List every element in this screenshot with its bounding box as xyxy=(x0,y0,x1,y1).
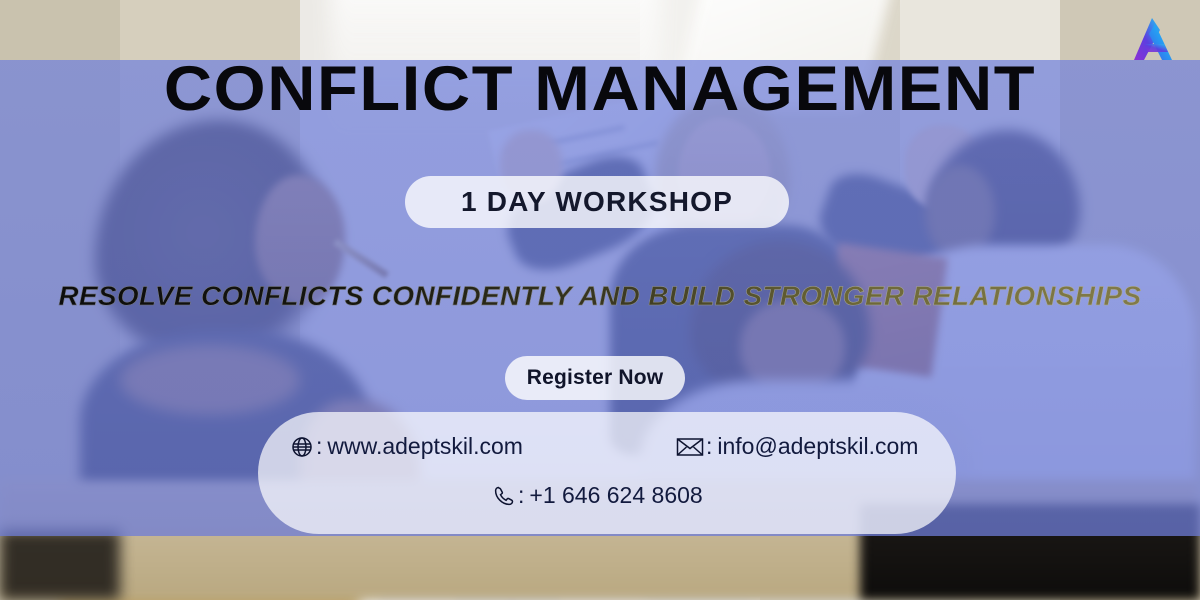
workshop-duration-label: 1 DAY WORKSHOP xyxy=(461,186,733,218)
phone-text: +1 646 624 8608 xyxy=(529,482,702,509)
email-text: info@adeptskil.com xyxy=(717,433,918,460)
register-now-label: Register Now xyxy=(527,366,664,390)
envelope-icon xyxy=(676,436,704,458)
workshop-duration-badge: 1 DAY WORKSHOP xyxy=(405,176,789,228)
contact-phone[interactable]: : +1 646 624 8608 xyxy=(492,482,703,509)
phone-icon xyxy=(492,484,516,508)
phone-separator: : xyxy=(518,482,524,509)
globe-icon xyxy=(290,435,314,459)
banner-content: CONFLICT MANAGEMENT 1 DAY WORKSHOP RESOL… xyxy=(0,0,1200,600)
website-separator: : xyxy=(316,433,322,460)
contact-panel xyxy=(258,412,956,534)
tagline: RESOLVE CONFLICTS CONFIDENTLY AND BUILD … xyxy=(0,281,1200,312)
page-title: CONFLICT MANAGEMENT xyxy=(0,58,1200,121)
event-banner: CONFLICT MANAGEMENT 1 DAY WORKSHOP RESOL… xyxy=(0,0,1200,600)
email-separator: : xyxy=(706,433,712,460)
contact-email[interactable]: : info@adeptskil.com xyxy=(676,433,918,460)
website-text: www.adeptskil.com xyxy=(327,433,523,460)
contact-website[interactable]: : www.adeptskil.com xyxy=(290,433,523,460)
register-now-button[interactable]: Register Now xyxy=(505,356,685,400)
adeptskil-logo[interactable] xyxy=(1124,10,1182,68)
